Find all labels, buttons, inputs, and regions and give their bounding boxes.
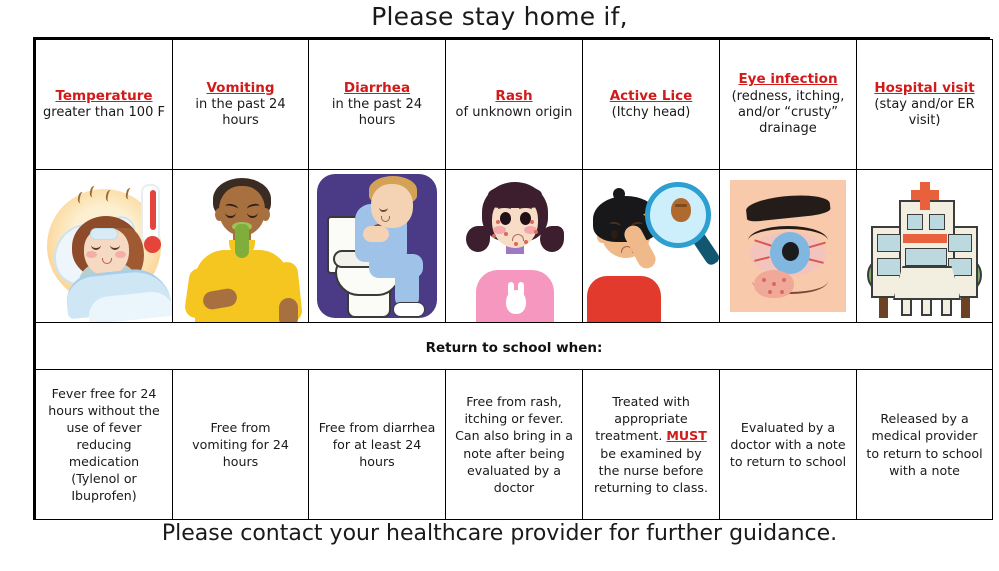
girl-with-rash-illustration	[446, 170, 582, 322]
header-subtext-rash: of unknown origin	[449, 105, 579, 121]
infected-pink-eye-illustration	[720, 170, 856, 322]
header-title-diarrhea: Diarrhea	[312, 80, 442, 96]
hospital-building-illustration	[857, 170, 992, 322]
header-title-vomiting: Vomiting	[176, 80, 305, 96]
lice-text-after: be examined by the nurse before returnin…	[594, 446, 708, 495]
return-text-diarrhea: Free from diarrhea for at least 24 hours	[312, 419, 442, 470]
return-cell-vomiting: Free from vomiting for 24 hours	[173, 370, 309, 520]
header-cell-vomiting: Vomiting in the past 24 hours	[173, 40, 309, 170]
header-cell-temperature: Temperature greater than 100 F	[36, 40, 173, 170]
stay-home-poster: Please stay home if, Temperature greater…	[0, 0, 999, 571]
return-to-school-banner: Return to school when:	[36, 323, 993, 370]
return-criteria-row: Fever free for 24 hours without the use …	[36, 370, 993, 520]
return-text-active-lice: Treated with appropriate treatment. MUST…	[586, 393, 716, 496]
header-subtext-active-lice: (Itchy head)	[586, 105, 716, 121]
boy-vomiting-illustration	[173, 170, 308, 322]
header-cell-active-lice: Active Lice (Itchy head)	[583, 40, 720, 170]
illustration-cell-eye-infection	[720, 170, 857, 323]
header-title-rash: Rash	[449, 88, 579, 104]
header-cell-rash: Rash of unknown origin	[446, 40, 583, 170]
header-subtext-hospital-visit: (stay and/or ER visit)	[860, 97, 989, 130]
boy-on-toilet-illustration	[309, 170, 445, 322]
footer-note: Please contact your healthcare provider …	[0, 521, 999, 546]
return-cell-active-lice: Treated with appropriate treatment. MUST…	[583, 370, 720, 520]
illustration-cell-diarrhea	[309, 170, 446, 323]
header-row: Temperature greater than 100 F Vomiting …	[36, 40, 993, 170]
return-text-eye-infection: Evaluated by a doctor with a note to ret…	[723, 419, 853, 470]
return-text-hospital-visit: Released by a medical provider to return…	[860, 410, 989, 479]
page-title: Please stay home if,	[0, 2, 999, 31]
illustration-cell-hospital-visit	[857, 170, 993, 323]
return-to-school-row: Return to school when:	[36, 323, 993, 370]
return-text-rash: Free from rash, itching or fever. Can al…	[449, 393, 579, 496]
sick-girl-in-bed-with-thermometer-illustration	[36, 170, 172, 322]
illustration-cell-temperature	[36, 170, 173, 323]
return-cell-diarrhea: Free from diarrhea for at least 24 hours	[309, 370, 446, 520]
header-cell-eye-infection: Eye infection (redness, itching, and/or …	[720, 40, 857, 170]
return-text-temperature: Fever free for 24 hours without the use …	[39, 385, 169, 505]
illustration-cell-rash	[446, 170, 583, 323]
header-title-temperature: Temperature	[39, 88, 169, 104]
louse-icon	[671, 198, 691, 222]
return-text-vomiting: Free from vomiting for 24 hours	[176, 419, 305, 470]
illustration-row	[36, 170, 993, 323]
header-title-hospital-visit: Hospital visit	[860, 80, 989, 96]
header-subtext-temperature: greater than 100 F	[39, 105, 169, 121]
return-cell-rash: Free from rash, itching or fever. Can al…	[446, 370, 583, 520]
illustration-cell-vomiting	[173, 170, 309, 323]
header-cell-diarrhea: Diarrhea in the past 24 hours	[309, 40, 446, 170]
header-subtext-diarrhea: in the past 24 hours	[312, 97, 442, 130]
return-cell-eye-infection: Evaluated by a doctor with a note to ret…	[720, 370, 857, 520]
return-cell-hospital-visit: Released by a medical provider to return…	[857, 370, 993, 520]
lice-text-must-emphasis: MUST	[666, 428, 706, 443]
header-title-active-lice: Active Lice	[586, 88, 716, 104]
header-title-eye-infection: Eye infection	[723, 71, 853, 87]
symptoms-table: Temperature greater than 100 F Vomiting …	[33, 37, 990, 520]
header-cell-hospital-visit: Hospital visit (stay and/or ER visit)	[857, 40, 993, 170]
boy-scratching-head-with-magnifier-louse-illustration	[583, 170, 719, 322]
return-to-school-label: Return to school when:	[426, 340, 603, 356]
header-subtext-vomiting: in the past 24 hours	[176, 97, 305, 130]
return-cell-temperature: Fever free for 24 hours without the use …	[36, 370, 173, 520]
header-subtext-eye-infection: (redness, itching, and/or “crusty” drain…	[723, 89, 853, 138]
illustration-cell-active-lice	[583, 170, 720, 323]
